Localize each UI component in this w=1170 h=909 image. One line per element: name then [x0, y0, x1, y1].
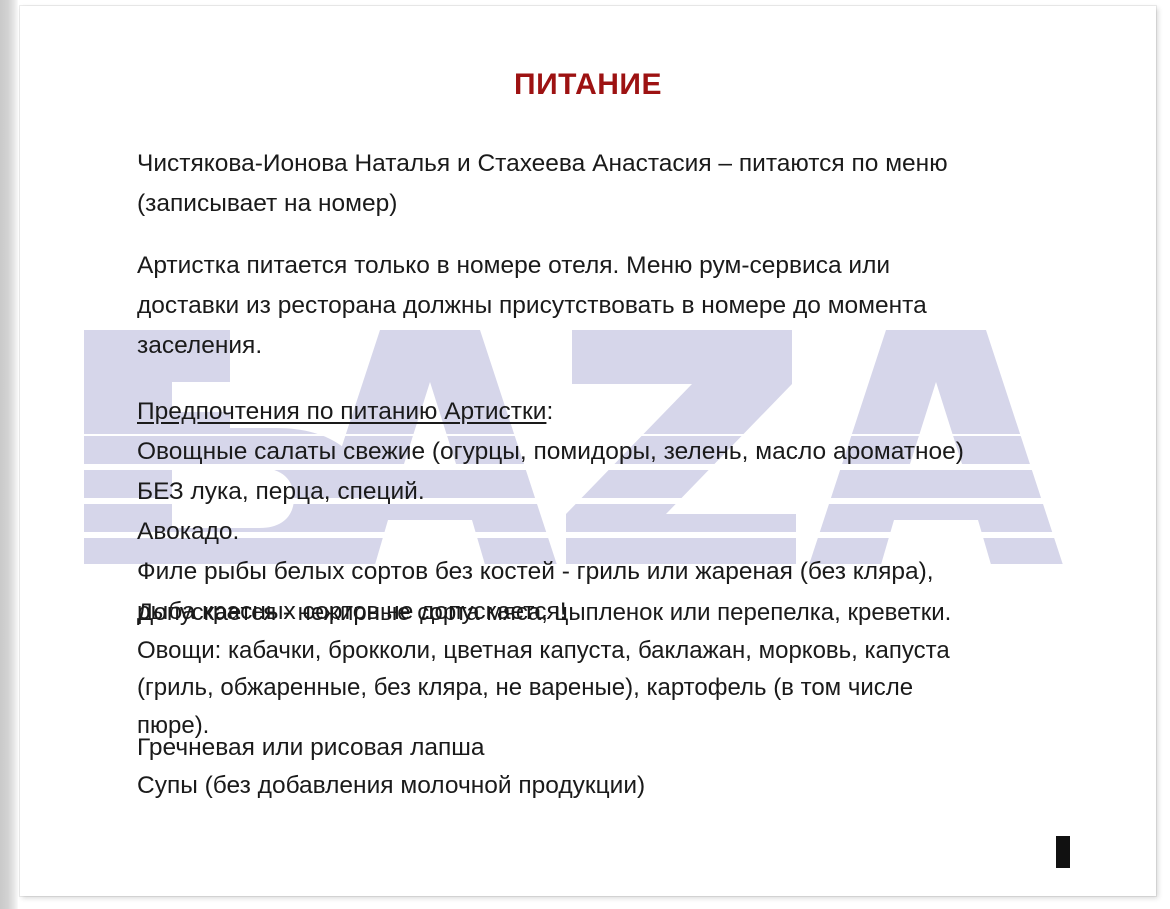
left-scroll-gutter[interactable]: [0, 0, 18, 909]
tail-soups-line: Супы (без добавления молочной продукции): [137, 767, 1075, 805]
document-page: ПИТАНИЕ Чистякова-Ионова Наталья и Стахе…: [20, 6, 1156, 896]
preferences-salads-line-2: БЕЗ лука, перца, специй.: [137, 472, 1075, 512]
paragraph-room-service: Артистка питается только в номере отеля.…: [137, 246, 1075, 366]
room-service-line-2: доставки из ресторана должны присутствов…: [137, 286, 1075, 326]
allowed-meat-line: Допускается - нежирные сорта мяса, цыпле…: [137, 594, 1075, 632]
room-service-line-3: заселения.: [137, 326, 1075, 366]
paragraph-allowed-foods: Допускается - нежирные сорта мяса, цыпле…: [137, 594, 1075, 744]
preferences-fish-line-1: Филе рыбы белых сортов без костей - грил…: [137, 552, 1075, 592]
allowed-vegetables-line-2: (гриль, обжаренные, без кляра, не варены…: [137, 669, 1075, 707]
paragraph-tail: Гречневая или рисовая лапша Супы (без до…: [137, 729, 1075, 805]
preferences-avocado: Авокадо.: [137, 512, 1075, 552]
preferences-heading-underlined: Предпочтения по питанию Артистки: [137, 398, 546, 425]
preferences-heading-colon: :: [546, 398, 553, 425]
preferences-salads-line-1: Овощные салаты свежие (огурцы, помидоры,…: [137, 432, 1075, 472]
allowed-vegetables-line-1: Овощи: кабачки, брокколи, цветная капуст…: [137, 632, 1075, 670]
document-content: ПИТАНИЕ Чистякова-Ионова Наталья и Стахе…: [20, 6, 1156, 896]
room-service-line-1: Артистка питается только в номере отеля.…: [137, 246, 1075, 286]
paragraph-intro: Чистякова-Ионова Наталья и Стахеева Анас…: [137, 144, 1075, 224]
page-title: ПИТАНИЕ: [20, 68, 1156, 102]
preferences-heading: Предпочтения по питанию Артистки:: [137, 392, 1075, 432]
text-caret[interactable]: [1056, 836, 1070, 868]
tail-noodles-line: Гречневая или рисовая лапша: [137, 729, 1075, 767]
document-viewer: ПИТАНИЕ Чистякова-Ионова Наталья и Стахе…: [0, 0, 1170, 909]
